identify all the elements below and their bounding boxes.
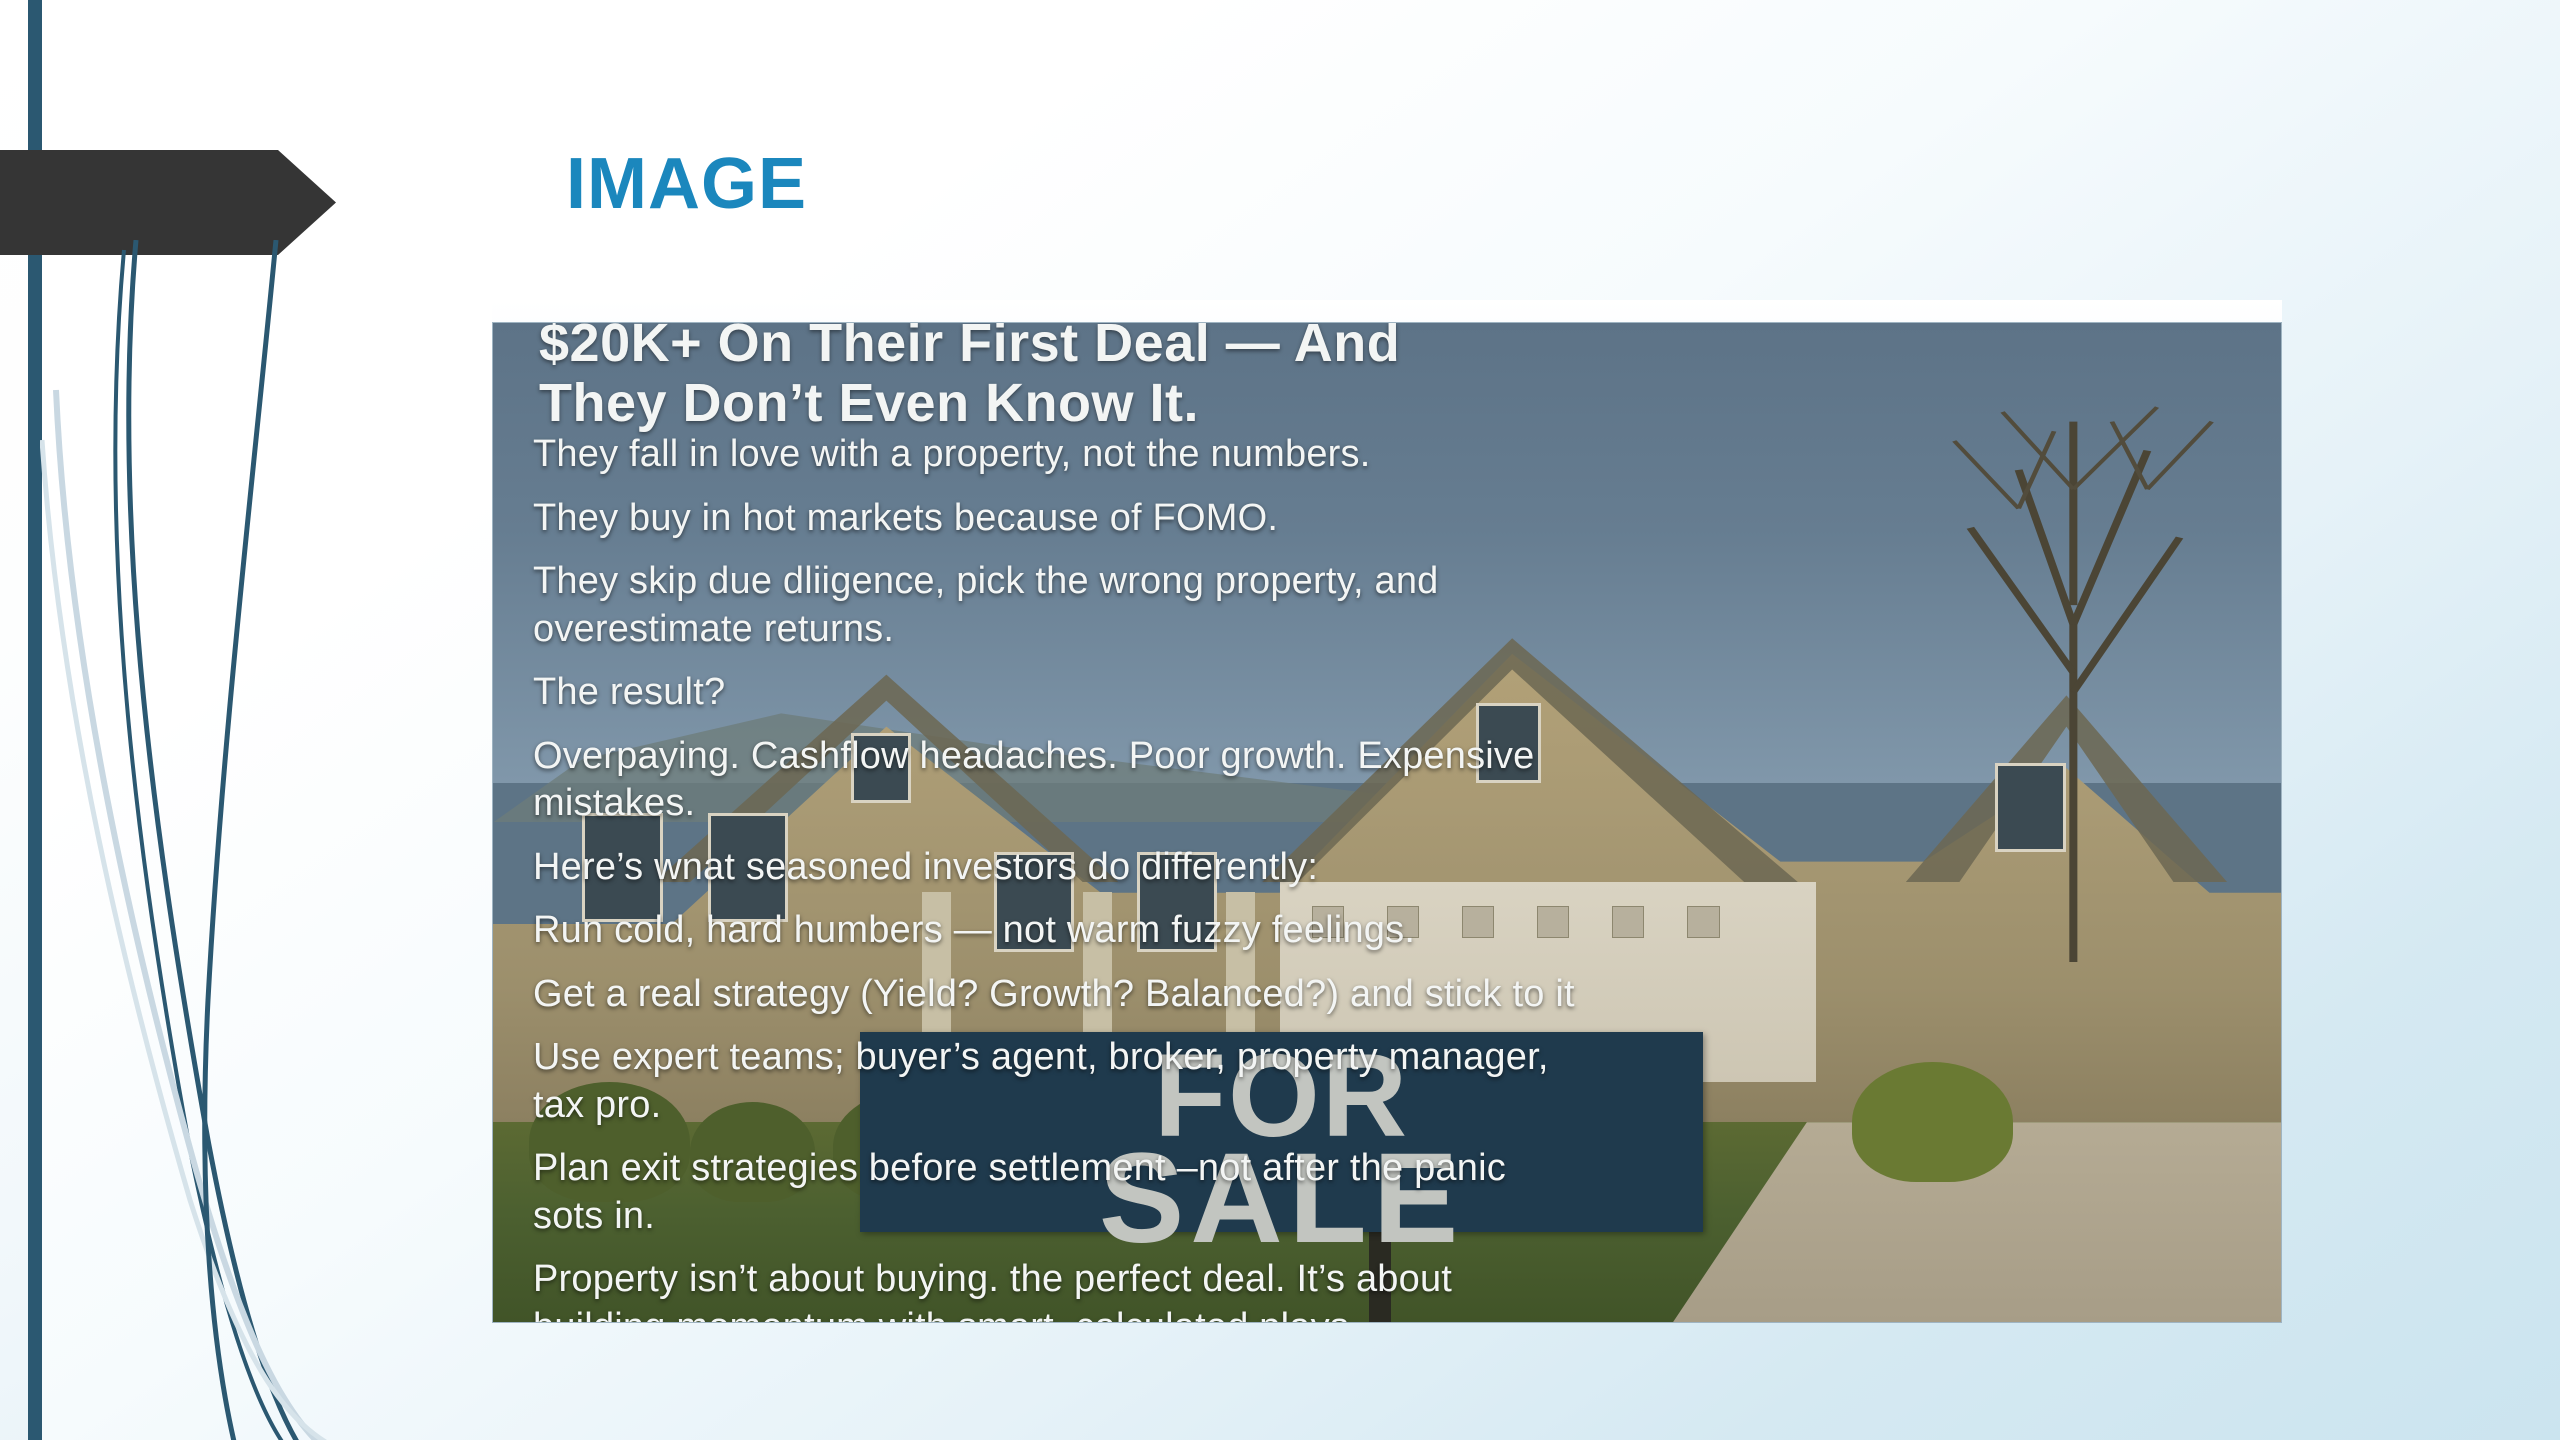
image-body-line: Here’s wnat seasoned investors do differ… <box>533 844 2273 892</box>
page-title: IMAGE <box>566 148 807 220</box>
image-headline: $20K+ On Their First Deal — And They Don… <box>539 322 2239 434</box>
image-headline-line2: They Don’t Even Know It. <box>539 373 2239 433</box>
image-body-line: They fall in love with a property, not t… <box>533 431 2273 479</box>
presentation-slide: IMAGE <box>0 0 2560 1440</box>
chevron-banner-decoration <box>0 150 336 255</box>
image-body-line: Get a real strategy (Yield? Growth? Bala… <box>533 971 2273 1019</box>
image-body-line: Use expert teams; buyer’s agent, broker,… <box>533 1034 2273 1129</box>
image-body-line: They skip due dliigence, pick the wrong … <box>533 558 2273 653</box>
image-body-lines: They fall in love with a property, not t… <box>533 431 2273 1323</box>
image-body-line: Overpaying. Cashflow headaches. Poor gro… <box>533 733 2273 828</box>
image-top-crop-mask <box>492 300 2282 322</box>
image-overlay-copy: $20K+ On Their First Deal — And They Don… <box>493 323 2281 1322</box>
image-headline-line1: $20K+ On Their First Deal — And <box>539 322 2239 373</box>
image-body-line: The result? <box>533 669 2273 717</box>
image-body-line: Run cold, hard humbers — not warm fuzzy … <box>533 907 2273 955</box>
image-body-line: They buy in hot markets because of FOMO. <box>533 495 2273 543</box>
image-body-line: Property isn’t about buying. the perfect… <box>533 1256 2273 1323</box>
image-body-line: Plan exit strategies before settlement –… <box>533 1145 2273 1240</box>
embedded-image[interactable]: FOR SALE $20K+ On Their First Deal — And… <box>492 322 2282 1323</box>
